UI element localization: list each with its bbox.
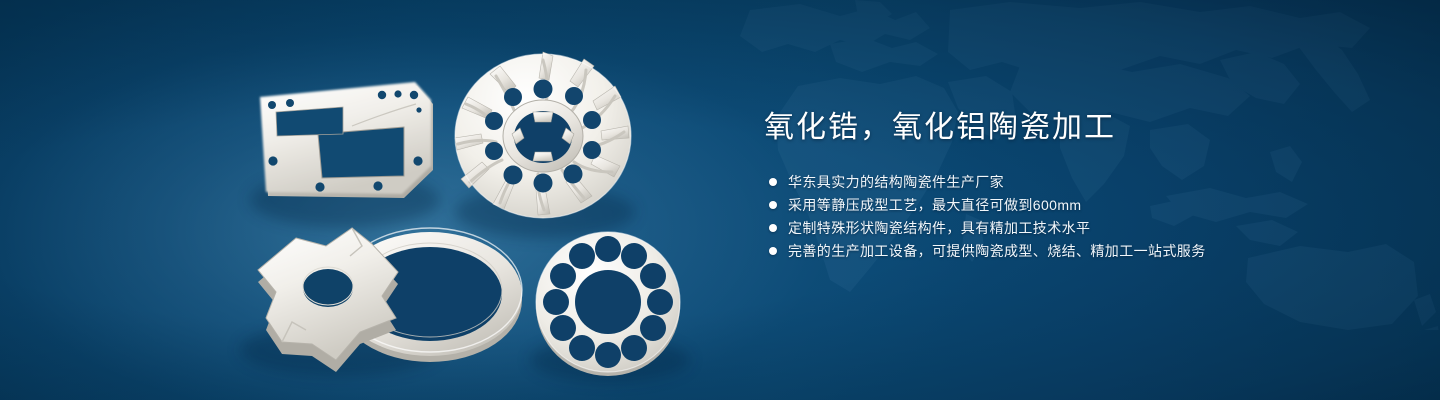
bullet-dot-icon xyxy=(769,224,777,232)
banner-copy: 氧化锆，氧化铝陶瓷加工 华东具实力的结构陶瓷件生产厂家 采用等静压成型工艺，最大… xyxy=(764,108,1404,266)
promo-banner: 氧化锆，氧化铝陶瓷加工 华东具实力的结构陶瓷件生产厂家 采用等静压成型工艺，最大… xyxy=(0,0,1440,400)
list-item-label: 完善的生产加工设备，可提供陶瓷成型、烧结、精加工一站式服务 xyxy=(788,243,1206,259)
list-item: 采用等静压成型工艺，最大直径可做到600mm xyxy=(764,197,1404,213)
list-item-label: 定制特殊形状陶瓷结构件，具有精加工技术水平 xyxy=(788,220,1090,236)
bullet-dot-icon xyxy=(769,178,777,186)
list-item-label: 采用等静压成型工艺，最大直径可做到600mm xyxy=(788,197,1081,213)
page-title: 氧化锆，氧化铝陶瓷加工 xyxy=(764,108,1404,148)
list-item: 完善的生产加工设备，可提供陶瓷成型、烧结、精加工一站式服务 xyxy=(764,243,1404,259)
list-item-label: 华东具实力的结构陶瓷件生产厂家 xyxy=(788,174,1004,190)
list-item: 定制特殊形状陶瓷结构件，具有精加工技术水平 xyxy=(764,220,1404,236)
feature-list: 华东具实力的结构陶瓷件生产厂家 采用等静压成型工艺，最大直径可做到600mm 定… xyxy=(764,174,1404,259)
bullet-dot-icon xyxy=(769,247,777,255)
list-item: 华东具实力的结构陶瓷件生产厂家 xyxy=(764,174,1404,190)
bullet-dot-icon xyxy=(769,201,777,209)
